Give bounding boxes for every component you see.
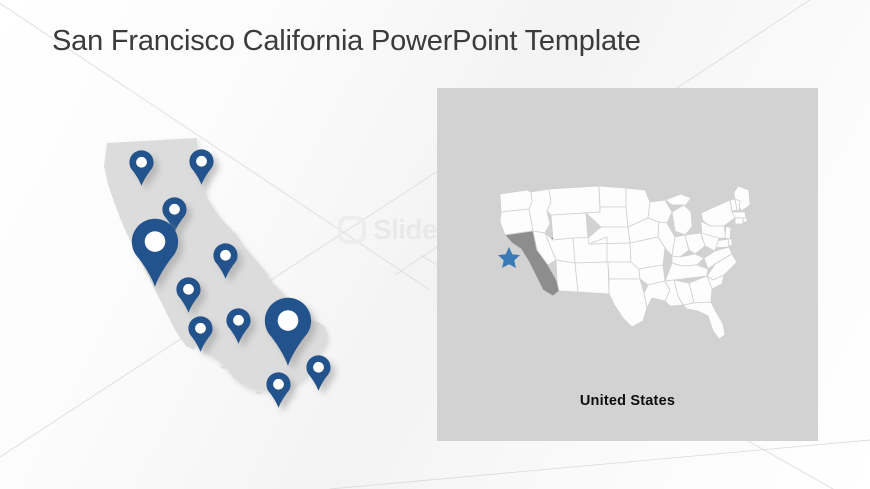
state-rhode-island — [743, 218, 747, 222]
state-oregon — [500, 209, 533, 235]
state-montana — [547, 186, 600, 215]
state-north-dakota — [599, 186, 626, 207]
state-missouri — [630, 237, 665, 269]
usa-map-graphic — [489, 183, 769, 358]
rounded-square-logo-icon — [338, 216, 366, 244]
state-wyoming — [551, 213, 588, 240]
state-washington — [500, 190, 532, 212]
state-michigan-lower — [672, 205, 692, 235]
san-francisco-star-icon — [498, 247, 520, 268]
map-pin-small[interactable] — [266, 372, 290, 408]
page-title: San Francisco California PowerPoint Temp… — [52, 25, 641, 58]
state-michigan-upper — [665, 194, 691, 205]
state-new-york — [701, 200, 735, 226]
state-new-mexico — [575, 262, 609, 294]
state-nebraska — [588, 227, 630, 244]
map-pin-small[interactable] — [306, 355, 330, 391]
state-new-jersey — [725, 226, 731, 239]
state-florida — [683, 302, 725, 339]
state-louisiana — [644, 281, 670, 308]
slide-canvas: San Francisco California PowerPoint Temp… — [0, 0, 870, 489]
state-arizona — [556, 260, 578, 292]
country-label: United States — [437, 393, 818, 409]
united-states-panel: San Francisco California — [437, 88, 818, 441]
state-wisconsin — [648, 200, 672, 223]
state-texas — [609, 279, 647, 327]
state-connecticut — [735, 218, 743, 224]
california-map-graphic — [96, 130, 340, 412]
